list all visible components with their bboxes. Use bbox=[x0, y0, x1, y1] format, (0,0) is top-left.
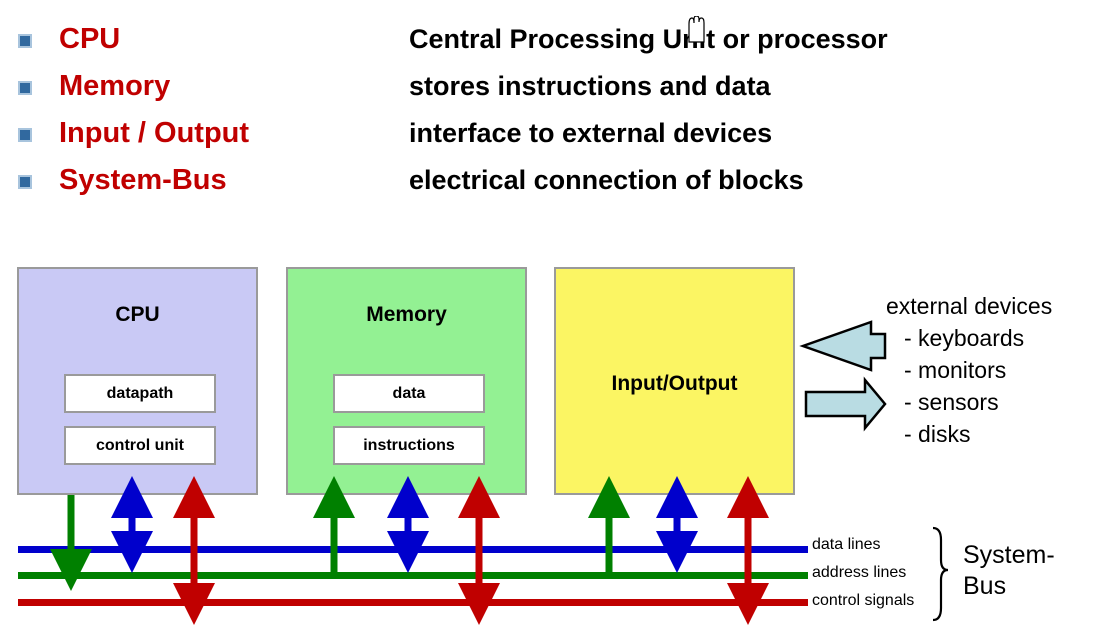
external-devices-list: external devices - keyboards - monitors … bbox=[886, 290, 1052, 450]
address-lines-label: address lines bbox=[812, 564, 906, 582]
cpu-block: CPU datapath control unit bbox=[17, 267, 258, 495]
data-lines-label: data lines bbox=[812, 536, 881, 554]
input-output-block-title: Input/Output bbox=[556, 372, 793, 396]
bullet-square-icon bbox=[18, 34, 32, 48]
external-device-item: - keyboards bbox=[886, 322, 1052, 354]
bullet-square-icon bbox=[18, 81, 32, 95]
input-output-block: Input/Output bbox=[554, 267, 795, 495]
concept-description: electrical connection of blocks bbox=[409, 159, 804, 201]
concept-term: CPU bbox=[59, 18, 120, 60]
external-input-arrow-icon bbox=[803, 322, 885, 370]
concept-list: CPU Central Processing Unit or processor… bbox=[0, 18, 1100, 206]
cpu-control-unit-box: control unit bbox=[64, 426, 216, 465]
list-item: System-Bus electrical connection of bloc… bbox=[0, 159, 1100, 206]
memory-instructions-box: instructions bbox=[333, 426, 485, 465]
address-bus-line bbox=[18, 572, 808, 579]
external-output-arrow-icon bbox=[806, 380, 885, 428]
memory-block: Memory data instructions bbox=[286, 267, 527, 495]
cpu-datapath-box: datapath bbox=[64, 374, 216, 413]
memory-block-title: Memory bbox=[288, 303, 525, 327]
concept-description: Central Processing Unit or processor bbox=[409, 18, 888, 60]
external-device-item: - sensors bbox=[886, 386, 1052, 418]
data-bus-line bbox=[18, 546, 808, 553]
list-item: Memory stores instructions and data bbox=[0, 65, 1100, 112]
system-bus-brace bbox=[933, 528, 948, 620]
external-device-item: - monitors bbox=[886, 354, 1052, 386]
bullet-square-icon bbox=[18, 128, 32, 142]
memory-data-box: data bbox=[333, 374, 485, 413]
concept-term: Memory bbox=[59, 65, 170, 107]
concept-description: stores instructions and data bbox=[409, 65, 771, 107]
concept-term: System-Bus bbox=[59, 159, 227, 201]
list-item: Input / Output interface to external dev… bbox=[0, 112, 1100, 159]
list-item: CPU Central Processing Unit or processor bbox=[0, 18, 1100, 65]
external-device-item: - disks bbox=[886, 418, 1052, 450]
concept-description: interface to external devices bbox=[409, 112, 772, 154]
control-bus-line bbox=[18, 599, 808, 606]
system-bus-label-line1: System- bbox=[963, 540, 1055, 571]
concept-term: Input / Output bbox=[59, 112, 249, 154]
bullet-square-icon bbox=[18, 175, 32, 189]
system-bus-label: System- Bus bbox=[963, 540, 1055, 602]
external-devices-heading: external devices bbox=[886, 290, 1052, 322]
system-bus-label-line2: Bus bbox=[963, 571, 1055, 602]
control-signals-label: control signals bbox=[812, 592, 914, 610]
cpu-block-title: CPU bbox=[19, 303, 256, 327]
